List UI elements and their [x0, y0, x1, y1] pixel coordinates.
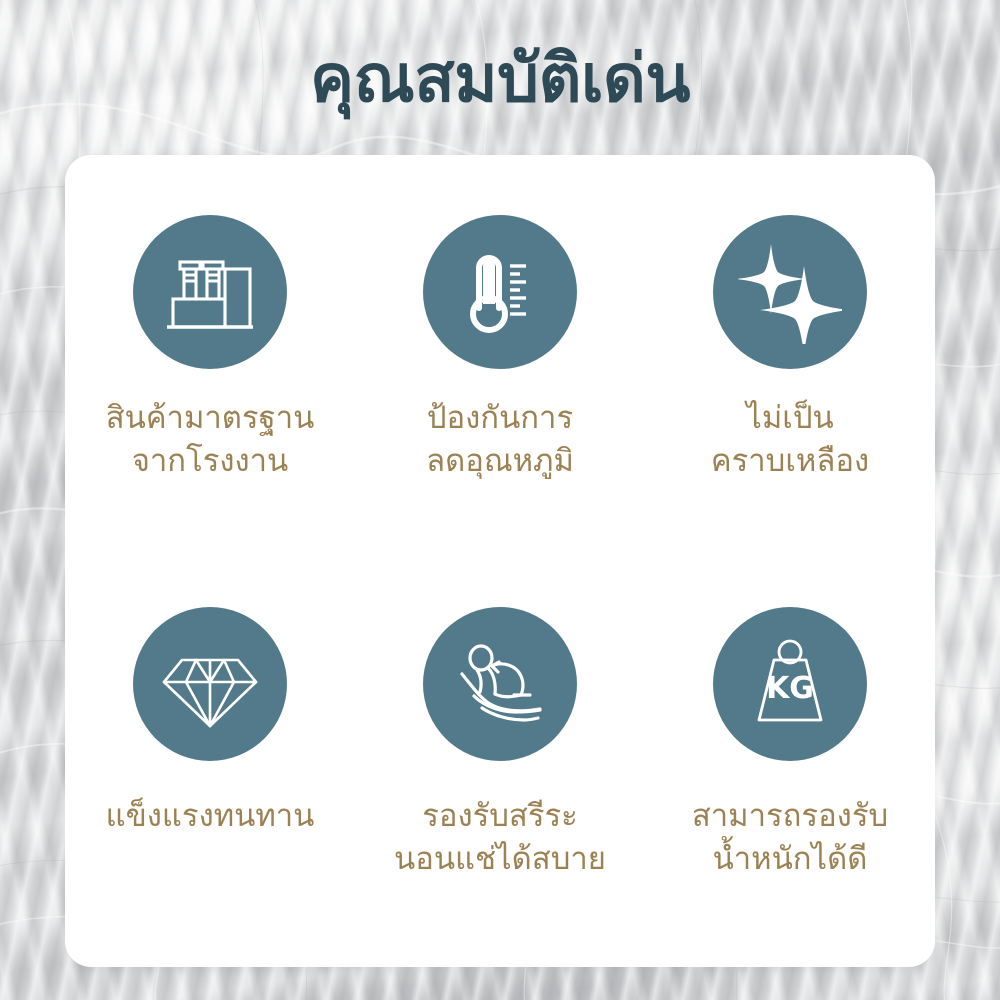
- feature-label: ป้องกันการ ลดอุณหภูมิ: [426, 397, 574, 483]
- feature-item-no-stain[interactable]: ไม่เป็น คราบเหลือง: [645, 215, 935, 483]
- feature-label: แข็งแรงทนทาน: [106, 795, 315, 838]
- feature-label: สินค้ามาตรฐาน จากโรงงาน: [106, 397, 315, 483]
- feature-label: สามารถรองรับ น้ำหนักได้ดี: [692, 795, 888, 881]
- page-title: คุณสมบัติเด่น: [0, 44, 1000, 113]
- feature-item-durable[interactable]: แข็งแรงทนทาน: [65, 607, 355, 838]
- feature-grid: สินค้ามาตรฐาน จากโรงงาน: [65, 215, 935, 955]
- feature-label: ไม่เป็น คราบเหลือง: [711, 397, 869, 483]
- feature-item-ergonomic[interactable]: รองรับสรีระ นอนแช่ได้สบาย: [355, 607, 645, 881]
- thermometer-icon: [423, 215, 577, 369]
- factory-icon: [133, 215, 287, 369]
- page-root: คุณสมบัติเด่น: [0, 0, 1000, 1000]
- feature-item-temperature[interactable]: ป้องกันการ ลดอุณหภูมิ: [355, 215, 645, 483]
- feature-label: รองรับสรีระ นอนแช่ได้สบาย: [394, 795, 606, 881]
- kg-weight-icon: KG: [713, 607, 867, 761]
- feature-item-factory[interactable]: สินค้ามาตรฐาน จากโรงงาน: [65, 215, 355, 483]
- sparkle-icon: [713, 215, 867, 369]
- diamond-icon: [133, 607, 287, 761]
- kg-label: KG: [766, 671, 814, 706]
- person-reclining-in-bathtub-icon: [423, 607, 577, 761]
- feature-item-weight-capacity[interactable]: KG สามารถรองรับ น้ำหนักได้ดี: [645, 607, 935, 881]
